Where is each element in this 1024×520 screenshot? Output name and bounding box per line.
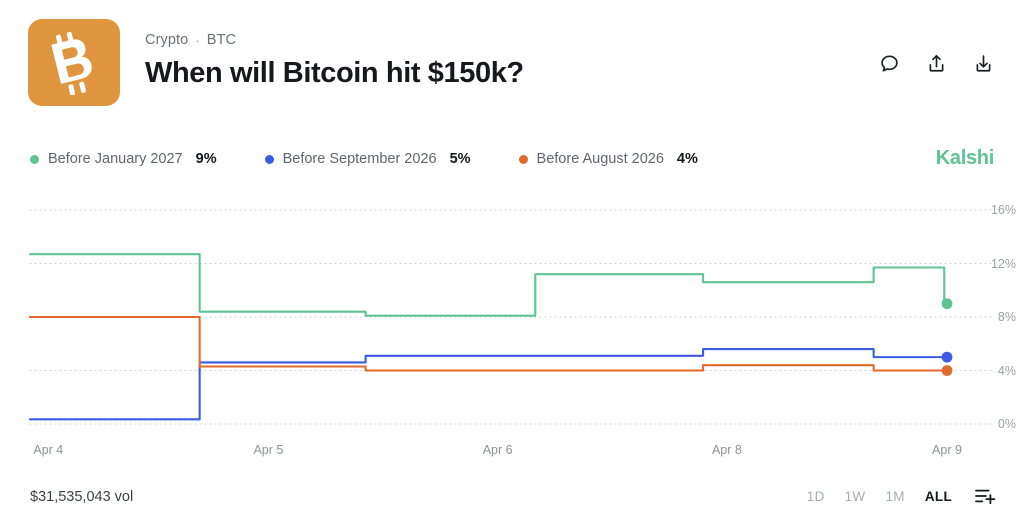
y-axis-labels: 0%4%8%12%16% [0, 195, 1024, 440]
legend-label: Before September 2026 [283, 151, 437, 167]
x-tick-label: Apr 9 [932, 443, 962, 457]
x-tick-label: Apr 4 [33, 443, 63, 457]
x-tick-label: Apr 6 [483, 443, 513, 457]
y-tick-label: 4% [976, 364, 1016, 378]
legend-value: 4% [677, 151, 698, 167]
legend-value: 5% [450, 151, 471, 167]
kalshi-logo: Kalshi [936, 147, 994, 170]
legend-label: Before January 2027 [48, 151, 183, 167]
chart-footer: $31,535,043 vol 1D 1W 1M ALL [0, 480, 1024, 520]
time-range-selector: 1D 1W 1M ALL [807, 487, 996, 505]
y-tick-label: 0% [976, 417, 1016, 431]
list-add-icon[interactable] [974, 487, 996, 505]
comment-icon[interactable] [879, 53, 900, 74]
legend-item-1[interactable]: Before September 2026 5% [265, 151, 471, 167]
price-chart[interactable]: 0%4%8%12%16% [0, 195, 1024, 440]
chart-legend: Before January 2027 9% Before September … [30, 148, 698, 170]
header-actions [879, 53, 994, 74]
y-tick-label: 8% [976, 310, 1016, 324]
x-axis-labels: Apr 4Apr 5Apr 6Apr 8Apr 9 [0, 443, 1024, 463]
range-1d[interactable]: 1D [807, 489, 825, 504]
breadcrumb-separator-icon: · [195, 33, 199, 48]
page-title: When will Bitcoin hit $150k? [145, 56, 524, 90]
legend-dot-icon [30, 155, 39, 164]
download-icon[interactable] [973, 53, 994, 74]
breadcrumb: Crypto · BTC [145, 31, 524, 49]
y-tick-label: 12% [976, 257, 1016, 271]
share-icon[interactable] [926, 53, 947, 74]
y-tick-label: 16% [976, 203, 1016, 217]
range-1m[interactable]: 1M [885, 489, 904, 504]
bitcoin-icon [28, 19, 120, 106]
legend-item-2[interactable]: Before August 2026 4% [519, 151, 698, 167]
legend-label: Before August 2026 [537, 151, 664, 167]
breadcrumb-category[interactable]: Crypto [145, 32, 188, 48]
volume-label: $31,535,043 vol [30, 489, 133, 505]
legend-dot-icon [265, 155, 274, 164]
range-all[interactable]: ALL [925, 489, 952, 504]
breadcrumb-ticker[interactable]: BTC [207, 32, 236, 48]
x-tick-label: Apr 8 [712, 443, 742, 457]
legend-dot-icon [519, 155, 528, 164]
legend-item-0[interactable]: Before January 2027 9% [30, 151, 217, 167]
x-tick-label: Apr 5 [253, 443, 283, 457]
market-header: Crypto · BTC When will Bitcoin hit $150k… [0, 0, 1024, 122]
legend-value: 9% [196, 151, 217, 167]
range-1w[interactable]: 1W [845, 489, 866, 504]
market-heading-block: Crypto · BTC When will Bitcoin hit $150k… [145, 31, 524, 90]
market-chart-page: Crypto · BTC When will Bitcoin hit $150k… [0, 0, 1024, 520]
